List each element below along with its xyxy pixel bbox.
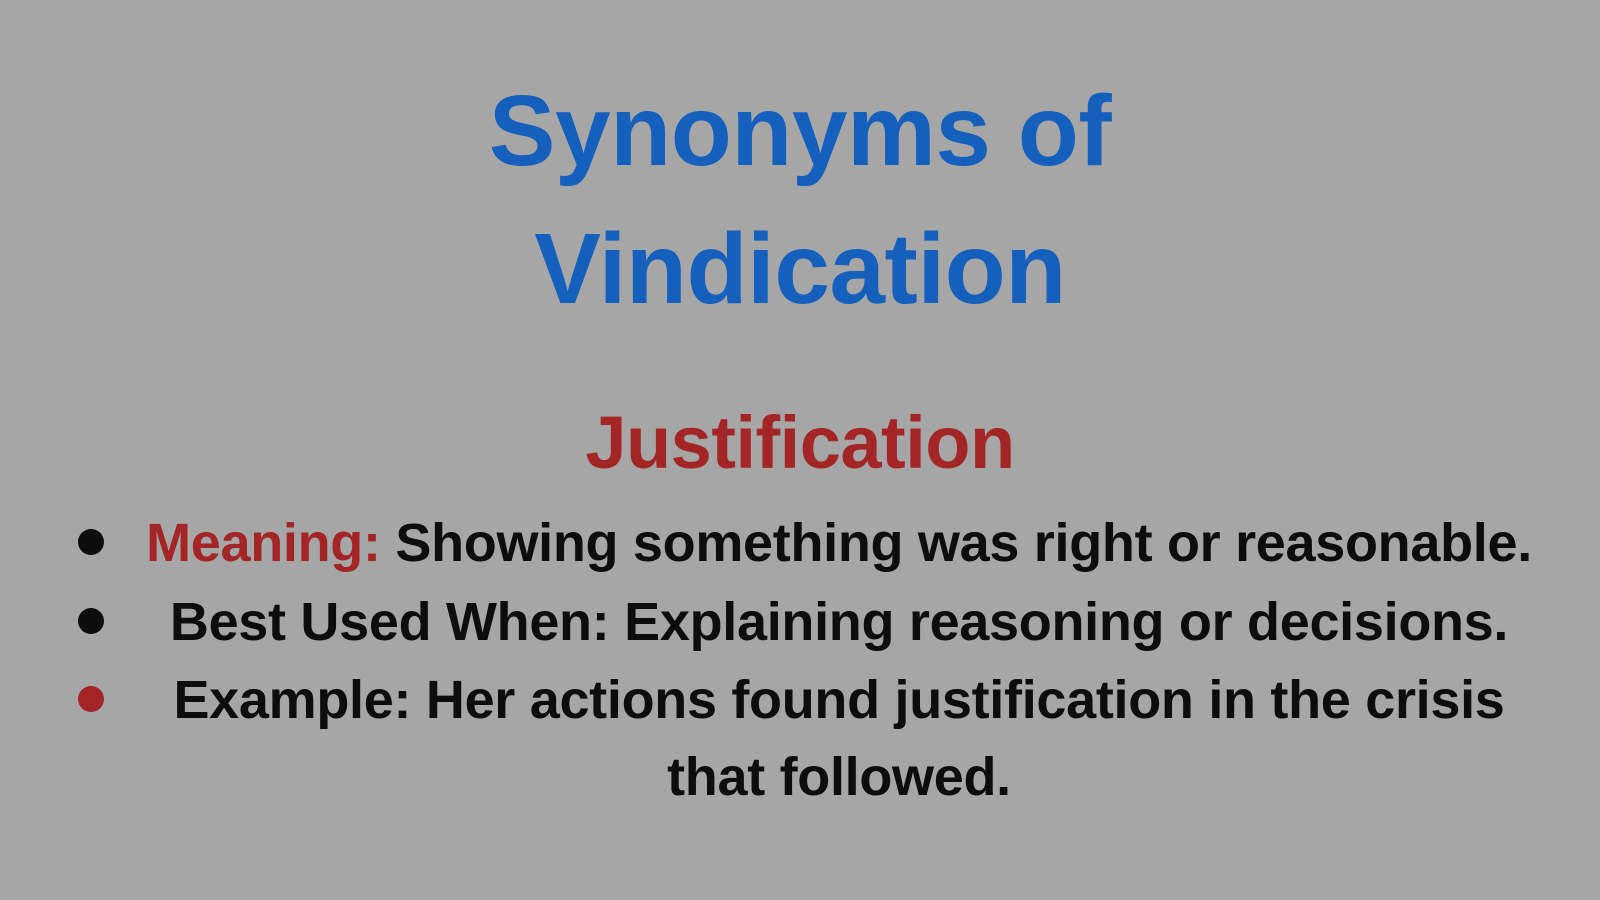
- bullet-marker-icon: [78, 529, 104, 555]
- title-line-1: Synonyms of: [0, 62, 1600, 200]
- list-item: Meaning: Showing something was right or …: [0, 505, 1600, 582]
- bullet-marker-icon: [78, 686, 104, 712]
- list-item-text: Showing something was right or reasonabl…: [381, 513, 1532, 573]
- subheading-justification: Justification: [0, 406, 1600, 480]
- bullet-list: Meaning: Showing something was right or …: [0, 505, 1600, 816]
- list-item-content: Meaning: Showing something was right or …: [118, 505, 1560, 582]
- slide-canvas: Synonyms of Vindication Justification Me…: [0, 0, 1600, 900]
- list-item: Best Used When: Explaining reasoning or …: [0, 584, 1600, 661]
- bullet-marker-icon: [78, 608, 104, 634]
- list-item-text: Best Used When: Explaining reasoning or …: [170, 592, 1508, 652]
- title-line-2: Vindication: [0, 200, 1600, 338]
- page-title: Synonyms of Vindication: [0, 62, 1600, 338]
- list-item-content: Best Used When: Explaining reasoning or …: [118, 584, 1560, 661]
- list-item-label: Meaning:: [146, 513, 381, 573]
- list-item: Example: Her actions found justification…: [0, 662, 1600, 815]
- list-item-content: Example: Her actions found justification…: [118, 662, 1560, 815]
- list-item-text: Example: Her actions found justification…: [173, 670, 1504, 807]
